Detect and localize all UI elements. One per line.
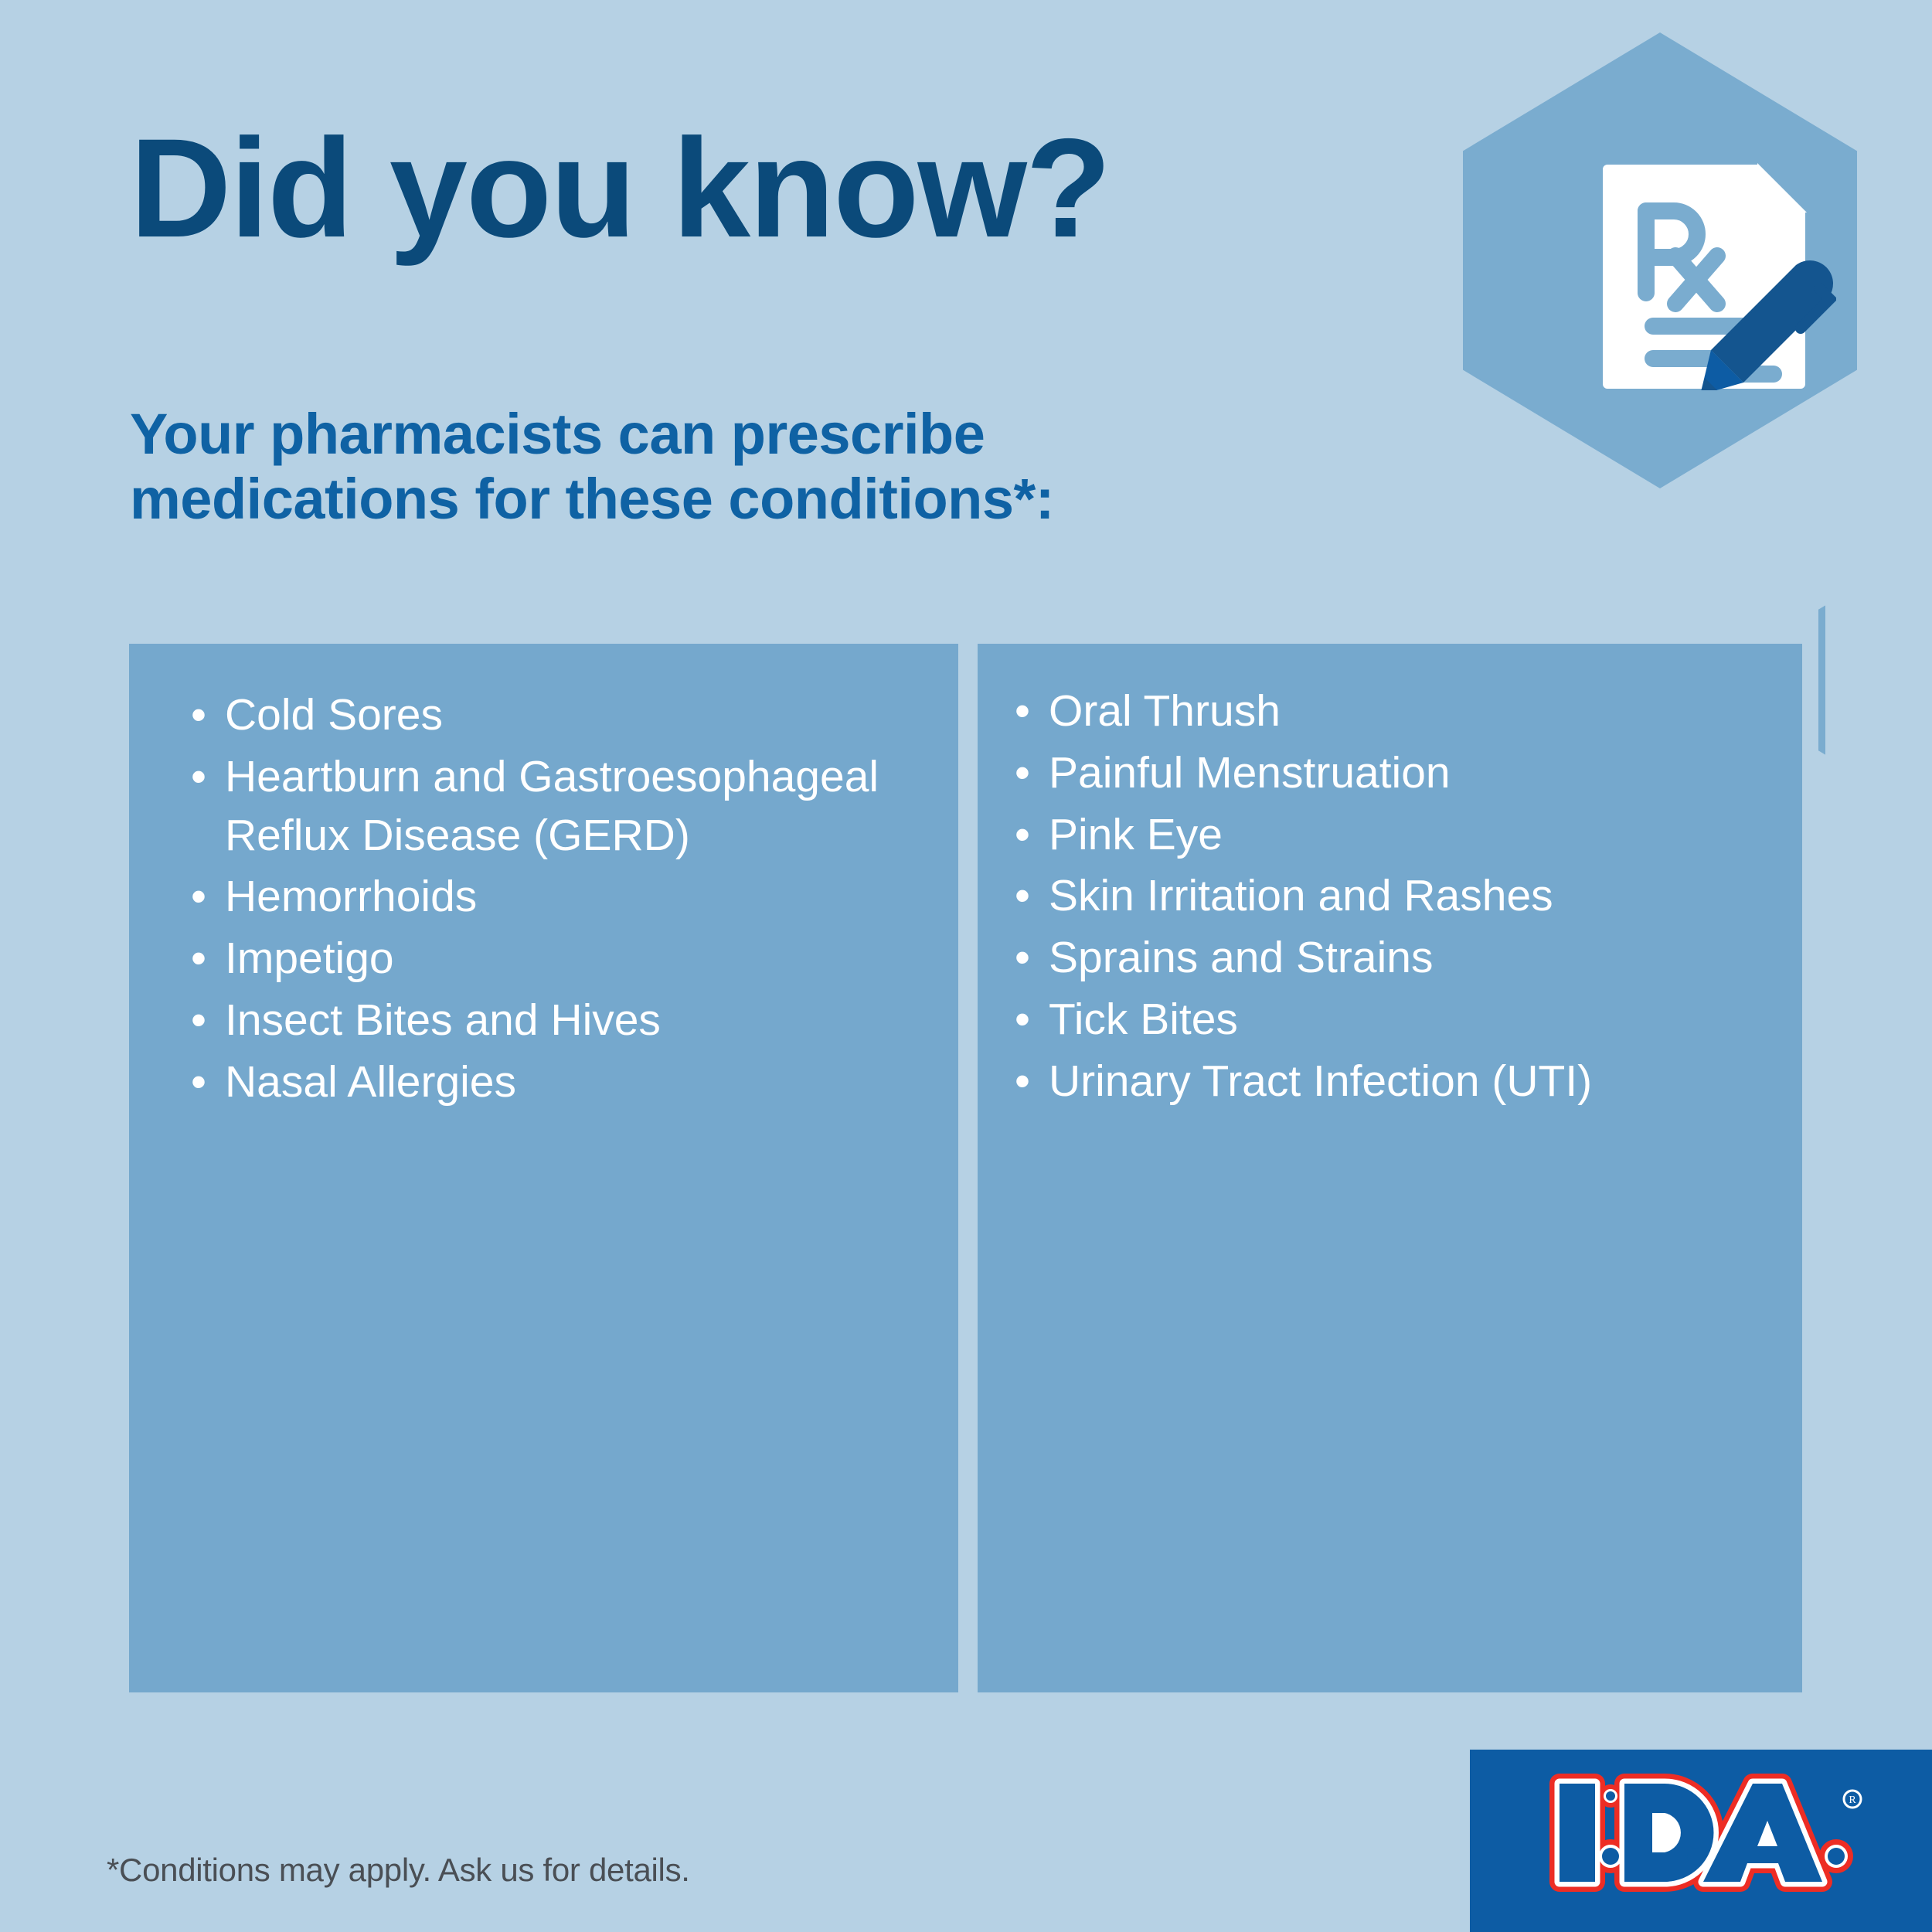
list-item: Insect Bites and Hives <box>191 992 927 1050</box>
page-subtitle: Your pharmacists can prescribe medicatio… <box>130 402 1054 532</box>
list-item: Cold Sores <box>191 686 927 745</box>
ida-logo: R <box>1544 1773 1869 1893</box>
subtitle-line-1: Your pharmacists can prescribe <box>130 402 1054 467</box>
list-item: Hemorrhoids <box>191 868 927 927</box>
hexagon-outline-decoration <box>1818 533 1932 827</box>
conditions-panel-right: Oral Thrush Painful Menstruation Pink Ey… <box>978 644 1802 1692</box>
registered-trademark-icon: R <box>1844 1791 1861 1808</box>
list-item: Nasal Allergies <box>191 1053 927 1112</box>
list-item: Impetigo <box>191 930 927 988</box>
list-item: Heartburn and Gastroesophageal Reflux Di… <box>191 748 927 866</box>
ida-logo-block: R <box>1470 1750 1932 1932</box>
list-item: Tick Bites <box>1015 991 1771 1049</box>
list-item: Urinary Tract Infection (UTI) <box>1015 1053 1771 1111</box>
poster-canvas: Did you know? Your pharmacists can presc… <box>0 0 1932 1932</box>
conditions-panel-left: Cold Sores Heartburn and Gastroesophagea… <box>129 644 958 1692</box>
conditions-list-right: Oral Thrush Painful Menstruation Pink Ey… <box>978 644 1802 1111</box>
rx-document-with-pen-icon <box>1597 158 1836 390</box>
list-item: Painful Menstruation <box>1015 744 1771 803</box>
list-item: Oral Thrush <box>1015 682 1771 741</box>
page-title: Did you know? <box>130 117 1110 258</box>
list-item: Sprains and Strains <box>1015 929 1771 988</box>
footnote-text: *Conditions may apply. Ask us for detail… <box>107 1852 690 1889</box>
list-item: Skin Irritation and Rashes <box>1015 867 1771 926</box>
list-item: Pink Eye <box>1015 806 1771 865</box>
subtitle-line-2: medications for these conditions*: <box>130 467 1054 532</box>
conditions-list-left: Cold Sores Heartburn and Gastroesophagea… <box>129 644 958 1112</box>
svg-text:R: R <box>1849 1794 1856 1806</box>
